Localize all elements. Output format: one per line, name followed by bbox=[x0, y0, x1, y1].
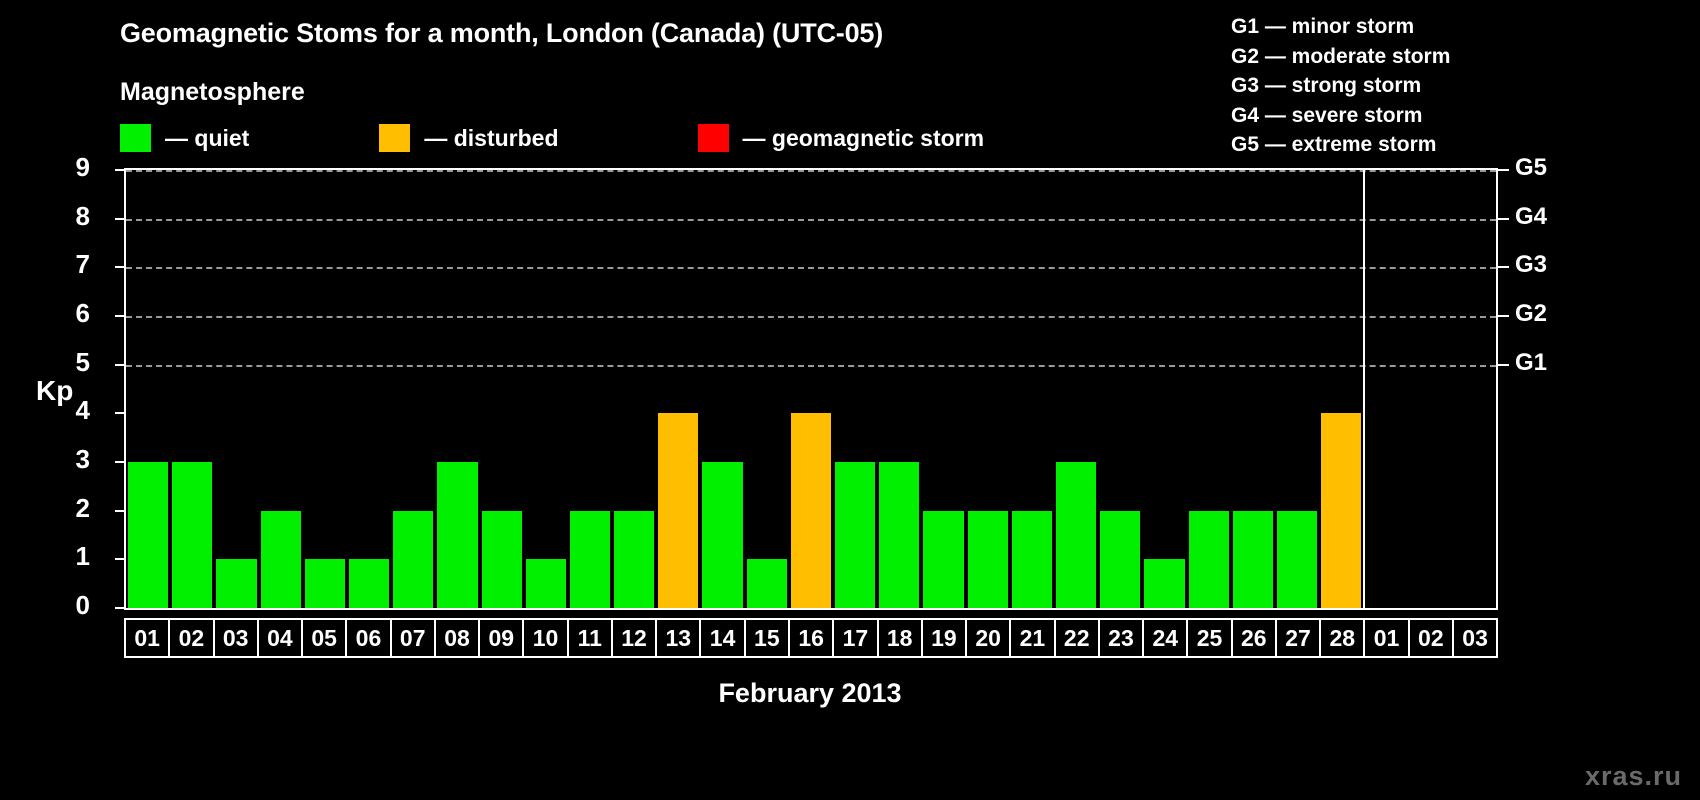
magnetosphere-legend: — quiet— disturbed— geomagnetic storm bbox=[120, 122, 984, 154]
bar-slot-07-6 bbox=[391, 170, 435, 608]
bar-day-20 bbox=[968, 511, 1008, 608]
day-label-11-10[interactable]: 11 bbox=[569, 620, 613, 656]
bar-day-06 bbox=[349, 559, 389, 608]
day-label-20-19[interactable]: 20 bbox=[967, 620, 1011, 656]
bar-slot-08-7 bbox=[435, 170, 479, 608]
bar-day-25 bbox=[1189, 511, 1229, 608]
bar-day-28 bbox=[1321, 413, 1361, 608]
bar-day-19 bbox=[923, 511, 963, 608]
day-label-05-4[interactable]: 05 bbox=[303, 620, 347, 656]
day-label-16-15[interactable]: 16 bbox=[790, 620, 834, 656]
g-tick-label-g1: G1 bbox=[1515, 349, 1547, 377]
bar-slot-11-10 bbox=[568, 170, 612, 608]
bar-day-01 bbox=[128, 462, 168, 608]
bar-slot-03-2 bbox=[214, 170, 258, 608]
x-axis-title: February 2013 bbox=[0, 678, 1700, 709]
bar-day-26 bbox=[1233, 511, 1273, 608]
bar-slot-19-18 bbox=[921, 170, 965, 608]
day-label-03-2[interactable]: 03 bbox=[215, 620, 259, 656]
bar-day-05 bbox=[305, 559, 345, 608]
bar-day-03 bbox=[216, 559, 256, 608]
g-tick-label-g2: G2 bbox=[1515, 300, 1547, 328]
bar-series bbox=[126, 170, 1496, 608]
y-tick-label-8: 8 bbox=[50, 201, 90, 232]
bar-slot-28-27 bbox=[1319, 170, 1363, 608]
day-label-27-26[interactable]: 27 bbox=[1277, 620, 1321, 656]
legend-label-disturbed: — disturbed bbox=[424, 125, 558, 152]
g-legend-line-g2: G2 — moderate storm bbox=[1231, 42, 1450, 72]
plot-inner bbox=[126, 170, 1496, 608]
day-label-03-30[interactable]: 03 bbox=[1454, 620, 1496, 656]
bar-day-18 bbox=[879, 462, 919, 608]
bar-slot-13-12 bbox=[656, 170, 700, 608]
day-label-13-12[interactable]: 13 bbox=[657, 620, 701, 656]
plot-area bbox=[124, 168, 1498, 610]
g-tick-mark-g3 bbox=[1498, 266, 1509, 268]
bar-day-11 bbox=[570, 511, 610, 608]
bar-day-08 bbox=[437, 462, 477, 608]
g-legend-line-g1: G1 — minor storm bbox=[1231, 12, 1450, 42]
g-tick-mark-g5 bbox=[1498, 169, 1509, 171]
y-tick-label-3: 3 bbox=[50, 444, 90, 475]
bar-slot-22-21 bbox=[1054, 170, 1098, 608]
day-label-22-21[interactable]: 22 bbox=[1056, 620, 1100, 656]
y-tick-label-1: 1 bbox=[50, 541, 90, 572]
bar-day-02 bbox=[172, 462, 212, 608]
day-label-15-14[interactable]: 15 bbox=[746, 620, 790, 656]
bar-day-22 bbox=[1056, 462, 1096, 608]
legend-entry-geomagnetic-storm: — geomagnetic storm bbox=[698, 122, 985, 154]
y-tick-label-2: 2 bbox=[50, 493, 90, 524]
y-tick-label-0: 0 bbox=[50, 590, 90, 621]
bar-slot-24-23 bbox=[1142, 170, 1186, 608]
day-label-07-6[interactable]: 07 bbox=[392, 620, 436, 656]
day-label-08-7[interactable]: 08 bbox=[436, 620, 480, 656]
y-tick-label-9: 9 bbox=[50, 152, 90, 183]
g-scale-legend: G1 — minor stormG2 — moderate stormG3 — … bbox=[1231, 12, 1450, 160]
bar-slot-02-1 bbox=[170, 170, 214, 608]
bar-slot-12-11 bbox=[612, 170, 656, 608]
bar-slot-10-9 bbox=[524, 170, 568, 608]
watermark: xras.ru bbox=[1585, 761, 1682, 792]
g-tick-mark-g2 bbox=[1498, 315, 1509, 317]
bar-slot-14-13 bbox=[700, 170, 744, 608]
legend-heading: Magnetosphere bbox=[120, 78, 305, 107]
day-label-26-25[interactable]: 26 bbox=[1233, 620, 1277, 656]
day-axis: 0102030405060708091011121314151617181920… bbox=[124, 618, 1498, 658]
g-tick-label-g5: G5 bbox=[1515, 154, 1547, 182]
bar-day-07 bbox=[393, 511, 433, 608]
bar-day-04 bbox=[261, 511, 301, 608]
bar-day-14 bbox=[702, 462, 742, 608]
day-label-21-20[interactable]: 21 bbox=[1011, 620, 1055, 656]
bar-slot-25-24 bbox=[1187, 170, 1231, 608]
legend-swatch-disturbed bbox=[379, 124, 410, 152]
y-tick-label-5: 5 bbox=[50, 347, 90, 378]
day-label-01-28[interactable]: 01 bbox=[1365, 620, 1409, 656]
day-label-14-13[interactable]: 14 bbox=[701, 620, 745, 656]
bar-day-09 bbox=[482, 511, 522, 608]
day-label-09-8[interactable]: 09 bbox=[480, 620, 524, 656]
day-label-19-18[interactable]: 19 bbox=[923, 620, 967, 656]
legend-label-quiet: — quiet bbox=[165, 125, 249, 152]
day-label-02-29[interactable]: 02 bbox=[1410, 620, 1454, 656]
g-legend-line-g5: G5 — extreme storm bbox=[1231, 130, 1450, 160]
g-tick-label-g4: G4 bbox=[1515, 203, 1547, 231]
bar-slot-17-16 bbox=[833, 170, 877, 608]
bar-slot-23-22 bbox=[1098, 170, 1142, 608]
day-label-24-23[interactable]: 24 bbox=[1144, 620, 1188, 656]
bar-day-16 bbox=[791, 413, 831, 608]
day-label-02-1[interactable]: 02 bbox=[170, 620, 214, 656]
bar-slot-04-3 bbox=[259, 170, 303, 608]
y-tick-label-6: 6 bbox=[50, 298, 90, 329]
legend-label-geomagnetic-storm: — geomagnetic storm bbox=[743, 125, 985, 152]
bar-slot-16-15 bbox=[789, 170, 833, 608]
bar-slot-18-17 bbox=[877, 170, 921, 608]
bar-day-21 bbox=[1012, 511, 1052, 608]
bar-day-23 bbox=[1100, 511, 1140, 608]
day-label-18-17[interactable]: 18 bbox=[879, 620, 923, 656]
bar-day-24 bbox=[1144, 559, 1184, 608]
day-label-04-3[interactable]: 04 bbox=[259, 620, 303, 656]
bar-day-12 bbox=[614, 511, 654, 608]
bar-slot-27-26 bbox=[1275, 170, 1319, 608]
bar-slot-02-29 bbox=[1407, 170, 1451, 608]
day-label-01-0[interactable]: 01 bbox=[126, 620, 170, 656]
day-label-06-5[interactable]: 06 bbox=[347, 620, 391, 656]
g-tick-mark-g4 bbox=[1498, 218, 1509, 220]
bar-day-10 bbox=[526, 559, 566, 608]
bar-slot-01-0 bbox=[126, 170, 170, 608]
day-label-23-22[interactable]: 23 bbox=[1100, 620, 1144, 656]
legend-entry-disturbed: — disturbed bbox=[379, 122, 558, 154]
bar-slot-03-30 bbox=[1452, 170, 1496, 608]
day-label-10-9[interactable]: 10 bbox=[524, 620, 568, 656]
g-legend-line-g4: G4 — severe storm bbox=[1231, 101, 1450, 131]
bar-slot-09-8 bbox=[480, 170, 524, 608]
chart-title: Geomagnetic Stoms for a month, London (C… bbox=[120, 18, 883, 49]
y-tick-label-4: 4 bbox=[50, 395, 90, 426]
bar-day-17 bbox=[835, 462, 875, 608]
g-tick-label-g3: G3 bbox=[1515, 251, 1547, 279]
bar-slot-26-25 bbox=[1231, 170, 1275, 608]
g-legend-line-g3: G3 — strong storm bbox=[1231, 71, 1450, 101]
month-divider bbox=[1363, 170, 1365, 608]
legend-swatch-geomagnetic-storm bbox=[698, 124, 729, 152]
bar-slot-06-5 bbox=[347, 170, 391, 608]
day-label-12-11[interactable]: 12 bbox=[613, 620, 657, 656]
day-label-25-24[interactable]: 25 bbox=[1188, 620, 1232, 656]
bar-slot-15-14 bbox=[745, 170, 789, 608]
bar-slot-20-19 bbox=[966, 170, 1010, 608]
x-axis-title-text: February 2013 bbox=[718, 678, 901, 708]
g-tick-mark-g1 bbox=[1498, 364, 1509, 366]
bar-day-27 bbox=[1277, 511, 1317, 608]
bar-slot-01-28 bbox=[1363, 170, 1407, 608]
bar-slot-05-4 bbox=[303, 170, 347, 608]
y-tick-label-7: 7 bbox=[50, 249, 90, 280]
day-label-17-16[interactable]: 17 bbox=[834, 620, 878, 656]
day-label-28-27[interactable]: 28 bbox=[1321, 620, 1365, 656]
bar-day-15 bbox=[747, 559, 787, 608]
legend-entry-quiet: — quiet bbox=[120, 122, 249, 154]
bar-slot-21-20 bbox=[1010, 170, 1054, 608]
legend-swatch-quiet bbox=[120, 124, 151, 152]
bar-day-13 bbox=[658, 413, 698, 608]
